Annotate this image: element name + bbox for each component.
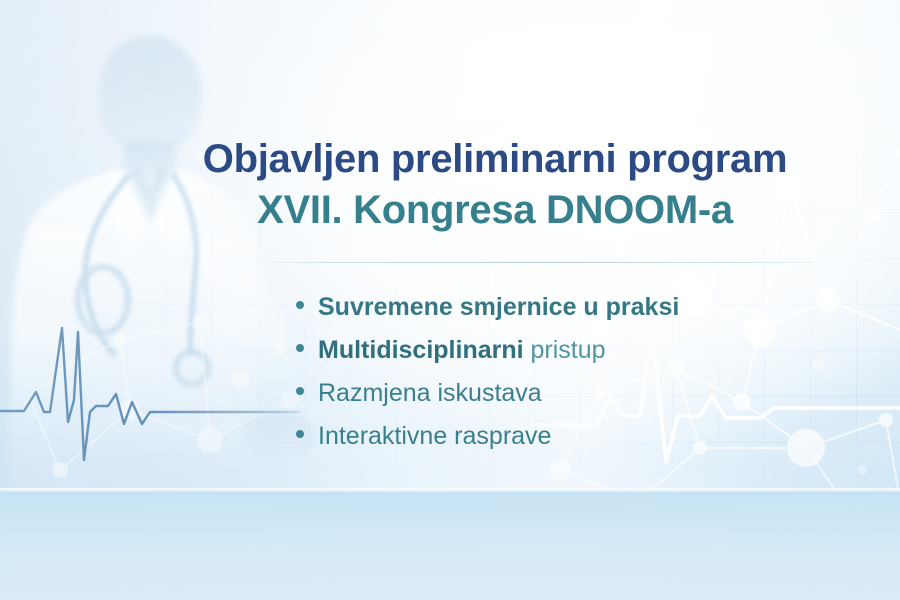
- bullet-dot-icon: [296, 430, 304, 438]
- feature-bullet-list: Suvremene smjernice u praksi Multidiscip…: [296, 286, 816, 458]
- headline-divider: [250, 262, 850, 263]
- bullet-dot-icon: [296, 387, 304, 395]
- bullet-lead: Suvremene smjernice u praksi: [318, 293, 679, 321]
- promo-banner: Objavljen preliminarni program XVII. Kon…: [0, 0, 900, 600]
- list-item: Suvremene smjernice u praksi: [296, 286, 816, 329]
- banner-content: Objavljen preliminarni program XVII. Kon…: [0, 0, 900, 600]
- headline-line-2: XVII. Kongresa DNOOM-a: [170, 184, 820, 236]
- bullet-dot-icon: [296, 344, 304, 352]
- list-item: Multidisciplinarni pristup: [296, 329, 816, 372]
- bullet-lead: Multidisciplinarni: [318, 336, 524, 364]
- bullet-dot-icon: [296, 301, 304, 309]
- bullet-text: Interaktivne rasprave: [318, 415, 551, 458]
- bullet-text: Suvremene smjernice u praksi: [318, 286, 679, 329]
- bullet-text: Multidisciplinarni pristup: [318, 329, 606, 372]
- bullet-tail: pristup: [524, 336, 606, 364]
- list-item: Razmjena iskustava: [296, 372, 816, 415]
- headline-line-1: Objavljen preliminarni program: [170, 134, 820, 184]
- headline-block: Objavljen preliminarni program XVII. Kon…: [170, 134, 820, 236]
- bullet-text: Razmjena iskustava: [318, 372, 542, 415]
- bullet-lead: Interaktivne rasprave: [318, 422, 551, 450]
- bullet-lead: Razmjena iskustava: [318, 379, 542, 407]
- list-item: Interaktivne rasprave: [296, 415, 816, 458]
